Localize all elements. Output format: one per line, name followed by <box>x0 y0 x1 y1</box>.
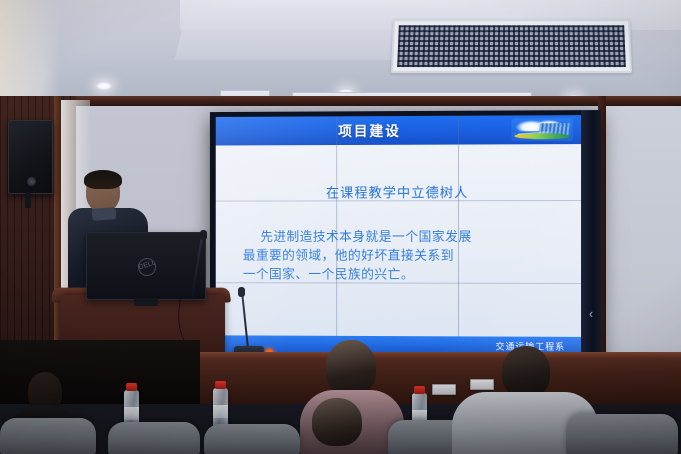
audience-chair <box>108 422 200 454</box>
audience-head <box>326 340 376 396</box>
conference-room-scene: 项目建设 在课程教学中立德树人 先进制造技术本身就是一个国家发展 最重要的领域，… <box>0 0 681 454</box>
dell-logo-icon: DELL <box>136 256 159 279</box>
chevron-left-icon[interactable]: ‹ <box>585 306 597 322</box>
table-microphone-head <box>238 287 245 297</box>
bottle-label <box>124 407 139 420</box>
panel-seam-vertical <box>458 116 459 355</box>
slide-body-line: 一个国家、一个民族的兴亡。 <box>243 265 553 284</box>
air-conditioning-vent <box>391 19 632 73</box>
speaker-bracket <box>25 192 31 208</box>
audience-chair <box>566 414 678 454</box>
slide-body-text: 先进制造技术本身就是一个国家发展 最重要的领域，他的好坏直接关系到 一个国家、一… <box>243 227 553 284</box>
panel-seam-horizontal <box>216 282 581 284</box>
bottle-cap <box>126 383 137 391</box>
panel-seam-horizontal <box>216 200 581 202</box>
display-bezel-right <box>581 110 601 360</box>
presenter-monitor[interactable]: DELL <box>86 232 206 300</box>
name-card-holder <box>432 384 456 395</box>
downlight-icon <box>96 82 112 90</box>
logo-base-shape <box>514 133 570 139</box>
audience-head <box>312 398 362 446</box>
wall-mounted-loudspeaker <box>8 120 53 194</box>
bottle-cap <box>414 386 425 394</box>
vent-grille <box>397 25 626 67</box>
presenter-collar <box>92 207 117 221</box>
audience-chair <box>204 424 300 454</box>
podium-microphone-head <box>200 230 207 240</box>
audience-head <box>502 346 550 398</box>
slide-body-line: 最重要的领域，他的好坏直接关系到 <box>243 246 553 265</box>
institution-logo-icon <box>511 118 573 141</box>
audience-member-center-front <box>296 398 378 454</box>
speaker-cone-icon <box>27 177 36 186</box>
slide-body-line: 先进制造技术本身就是一个国家发展 <box>243 227 553 246</box>
right-wall <box>598 96 681 396</box>
video-wall-display[interactable]: 项目建设 在课程教学中立德树人 先进制造技术本身就是一个国家发展 最重要的领域，… <box>210 110 601 360</box>
audience-member-right <box>468 346 580 454</box>
panel-seam-vertical <box>336 116 337 353</box>
audience-chair <box>0 418 96 454</box>
slide-screen: 项目建设 在课程教学中立德树人 先进制造技术本身就是一个国家发展 最重要的领域，… <box>216 115 581 355</box>
wood-trim-top <box>0 96 681 106</box>
presenter-hair <box>84 170 122 189</box>
slide-subtitle: 在课程教学中立德树人 <box>216 181 581 202</box>
monitor-stand <box>134 298 158 306</box>
bottle-cap <box>215 381 226 389</box>
bottle-label <box>213 405 228 418</box>
water-bottle <box>213 388 228 428</box>
